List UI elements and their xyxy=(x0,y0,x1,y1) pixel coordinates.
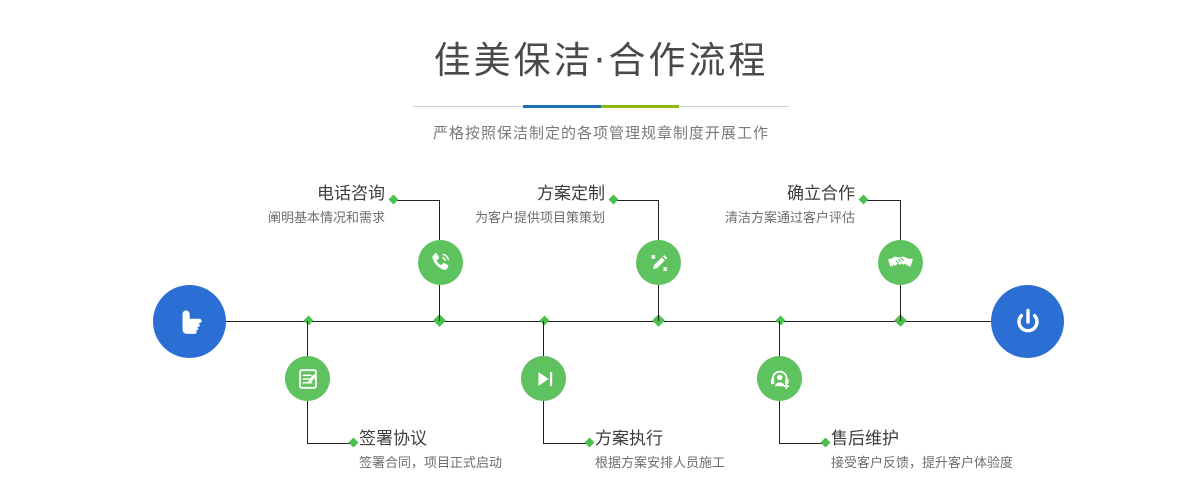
step-2-subtitle: 签署合同，项目正式启动 xyxy=(359,456,619,472)
step-6-subtitle: 接受客户反馈，提升客户体验度 xyxy=(831,456,1111,472)
step-6-connector-vertical-bottom xyxy=(779,401,780,443)
step-4-title: 方案执行 xyxy=(595,430,855,450)
step-4-icon-circle[interactable] xyxy=(521,356,566,401)
step-2-icon-circle[interactable] xyxy=(285,356,330,401)
step-5-connector-horizontal xyxy=(864,200,901,201)
step-2-connector-vertical-top xyxy=(307,321,308,357)
step-3-connector-vertical-bottom xyxy=(658,285,659,321)
document-edit-icon xyxy=(295,366,321,392)
step-3-label: 方案定制 为客户提供项目策策划 xyxy=(365,185,605,226)
step-5-label: 确立合作 清洁方案通过客户评估 xyxy=(615,185,855,226)
title-divider xyxy=(413,105,789,108)
step-2-label: 签署协议 签署合同，项目正式启动 xyxy=(359,430,619,471)
handshake-icon xyxy=(887,249,914,276)
step-6-connector-vertical-top xyxy=(779,321,780,357)
divider-blue-segment xyxy=(523,105,601,108)
pointing-hand-icon xyxy=(170,302,210,342)
customer-support-icon xyxy=(767,366,793,392)
timeline-end-node xyxy=(991,285,1064,358)
axis-diamond-5 xyxy=(776,316,786,326)
page-subtitle: 严格按照保洁制定的各项管理规章制度开展工作 xyxy=(0,122,1202,143)
step-2-label-diamond xyxy=(349,438,359,448)
step-1-icon-circle[interactable] xyxy=(418,240,463,285)
step-6-connector-horizontal xyxy=(779,443,826,444)
step-6-title: 售后维护 xyxy=(831,430,1111,450)
step-2-title: 签署协议 xyxy=(359,430,619,450)
step-1-connector-vertical-bottom xyxy=(439,285,440,321)
divider-green-segment xyxy=(601,105,679,108)
step-2-connector-vertical-bottom xyxy=(307,401,308,443)
axis-diamond-3 xyxy=(540,316,550,326)
header: 佳美保洁·合作流程 严格按照保洁制定的各项管理规章制度开展工作 xyxy=(0,0,1202,143)
step-3-subtitle: 为客户提供项目策策划 xyxy=(365,211,605,227)
phone-call-icon xyxy=(427,249,454,276)
step-5-label-diamond xyxy=(859,195,869,205)
play-execute-icon xyxy=(531,366,557,392)
step-3-icon-circle[interactable] xyxy=(636,240,681,285)
page-title: 佳美保洁·合作流程 xyxy=(0,42,1202,79)
step-5-icon-circle[interactable] xyxy=(878,240,923,285)
step-4-label: 方案执行 根据方案安排人员施工 xyxy=(595,430,855,471)
step-6-icon-circle[interactable] xyxy=(757,356,802,401)
step-2-connector-horizontal xyxy=(307,443,354,444)
step-1-subtitle: 阐明基本情况和需求 xyxy=(145,211,385,227)
step-1-label: 电话咨询 阐明基本情况和需求 xyxy=(145,185,385,226)
step-5-connector-vertical-top xyxy=(900,200,901,240)
step-3-title: 方案定制 xyxy=(365,185,605,205)
step-4-subtitle: 根据方案安排人员施工 xyxy=(595,456,855,472)
step-5-title: 确立合作 xyxy=(615,185,855,205)
step-1-title: 电话咨询 xyxy=(145,185,385,205)
flow-diagram: 佳美保洁·合作流程 严格按照保洁制定的各项管理规章制度开展工作 xyxy=(0,0,1202,502)
step-4-connector-vertical-bottom xyxy=(543,401,544,443)
power-icon xyxy=(1008,302,1048,342)
timeline-start-node xyxy=(153,285,226,358)
step-6-label: 售后维护 接受客户反馈，提升客户体验度 xyxy=(831,430,1111,471)
step-5-subtitle: 清洁方案通过客户评估 xyxy=(615,211,855,227)
step-4-connector-horizontal xyxy=(543,443,590,444)
pencil-design-icon xyxy=(646,250,672,276)
step-4-connector-vertical-top xyxy=(543,321,544,357)
axis-diamond-1 xyxy=(304,316,314,326)
step-5-connector-vertical-bottom xyxy=(900,285,901,321)
